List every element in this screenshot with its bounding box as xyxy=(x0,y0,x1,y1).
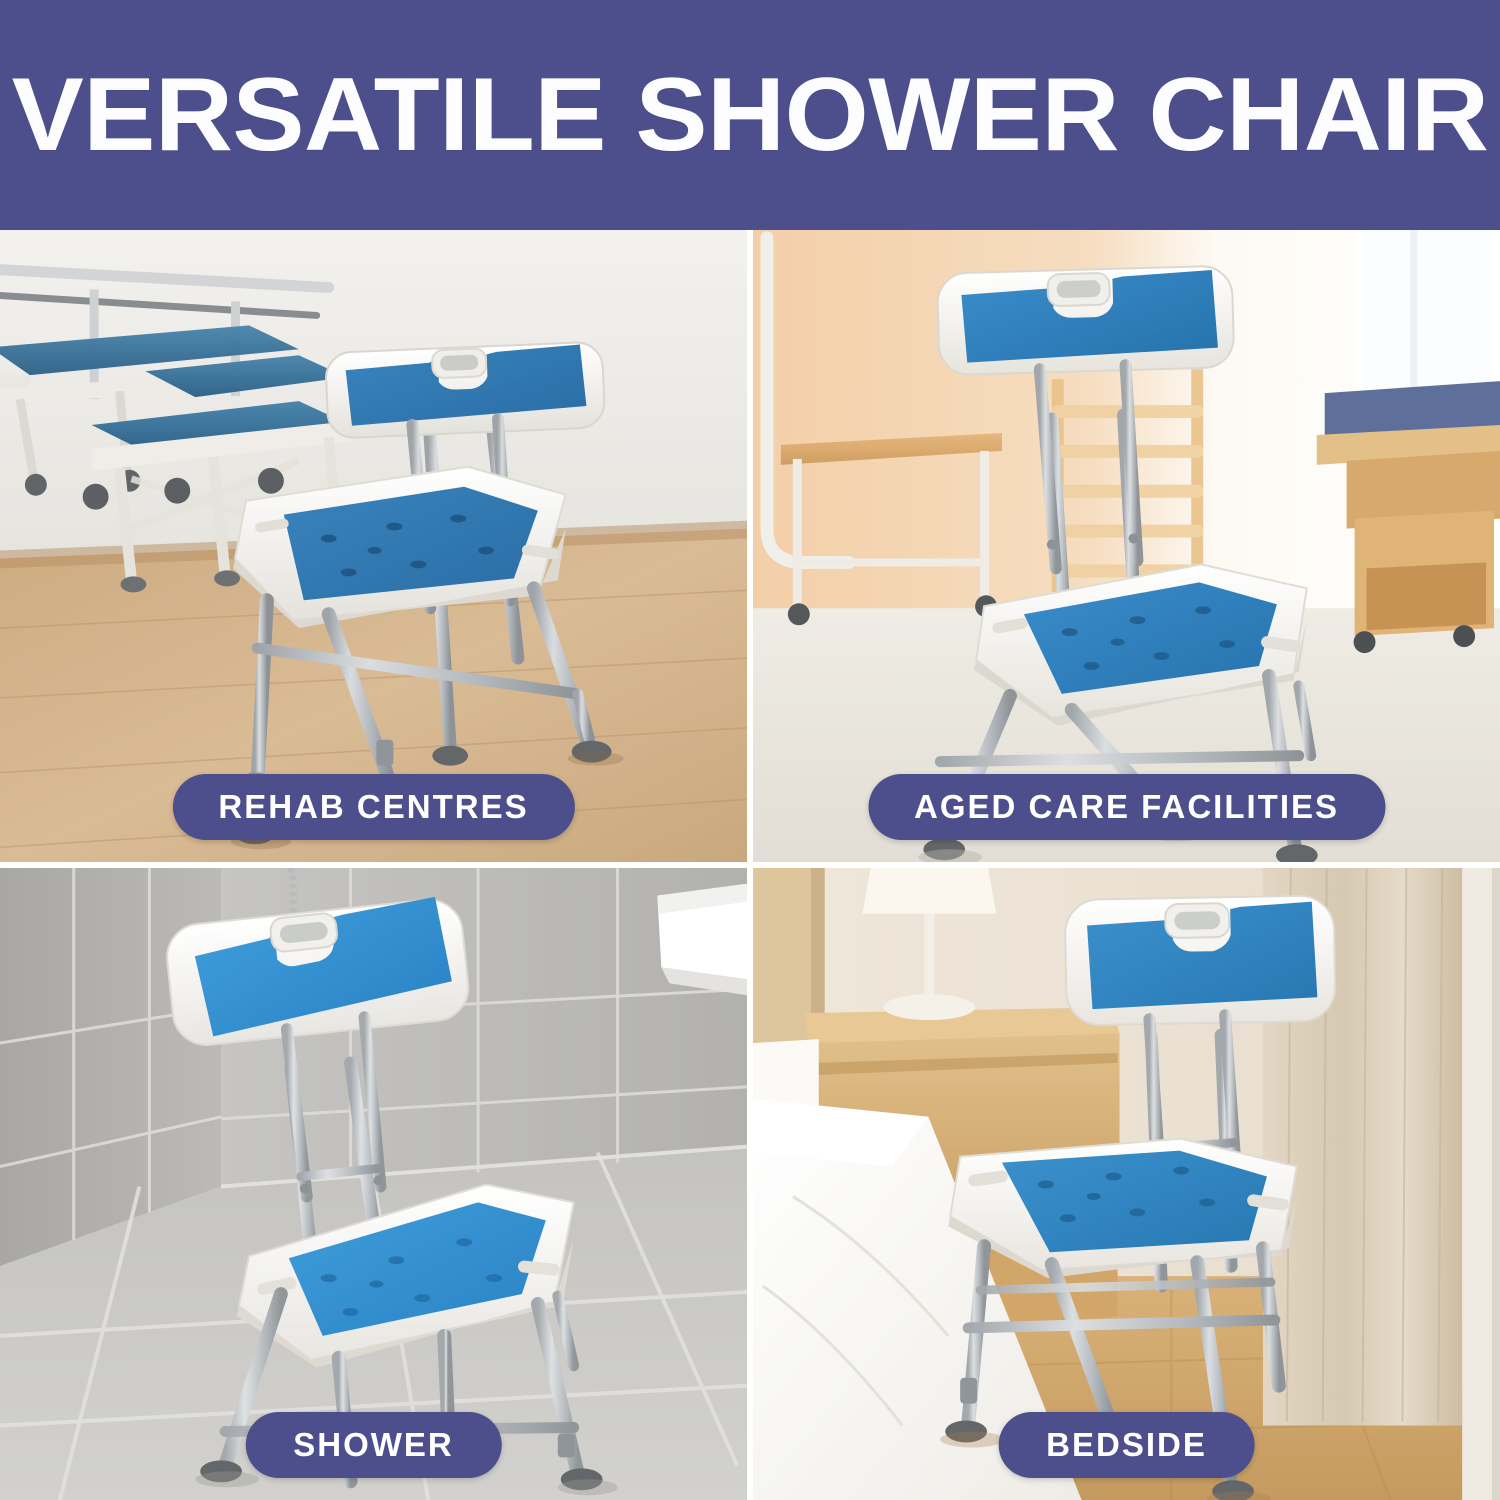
product-infographic: VERSATILE SHOWER CHAIR xyxy=(0,0,1500,1500)
panel-rehab[interactable]: REHAB CENTRES xyxy=(0,230,750,865)
scene-rehab-centre-room xyxy=(0,230,747,862)
scene-tiled-bathroom xyxy=(0,868,747,1500)
page-title: VERSATILE SHOWER CHAIR xyxy=(12,63,1489,167)
scene-bedroom xyxy=(753,868,1500,1500)
use-case-grid: REHAB CENTRES xyxy=(0,230,1500,1500)
panel-bedside[interactable]: BEDSIDE xyxy=(750,865,1500,1500)
panel-aged-care[interactable]: AGED CARE FACILITIES xyxy=(750,230,1500,865)
panel-shower[interactable]: SHOWER xyxy=(0,865,750,1500)
panel-label-rehab: REHAB CENTRES xyxy=(172,774,574,840)
panel-label-shower: SHOWER xyxy=(245,1412,502,1478)
scene-aged-care-room xyxy=(753,230,1500,862)
header-banner: VERSATILE SHOWER CHAIR xyxy=(0,0,1500,230)
panel-label-bedside: BEDSIDE xyxy=(998,1412,1255,1478)
panel-label-aged-care: AGED CARE FACILITIES xyxy=(868,774,1385,840)
